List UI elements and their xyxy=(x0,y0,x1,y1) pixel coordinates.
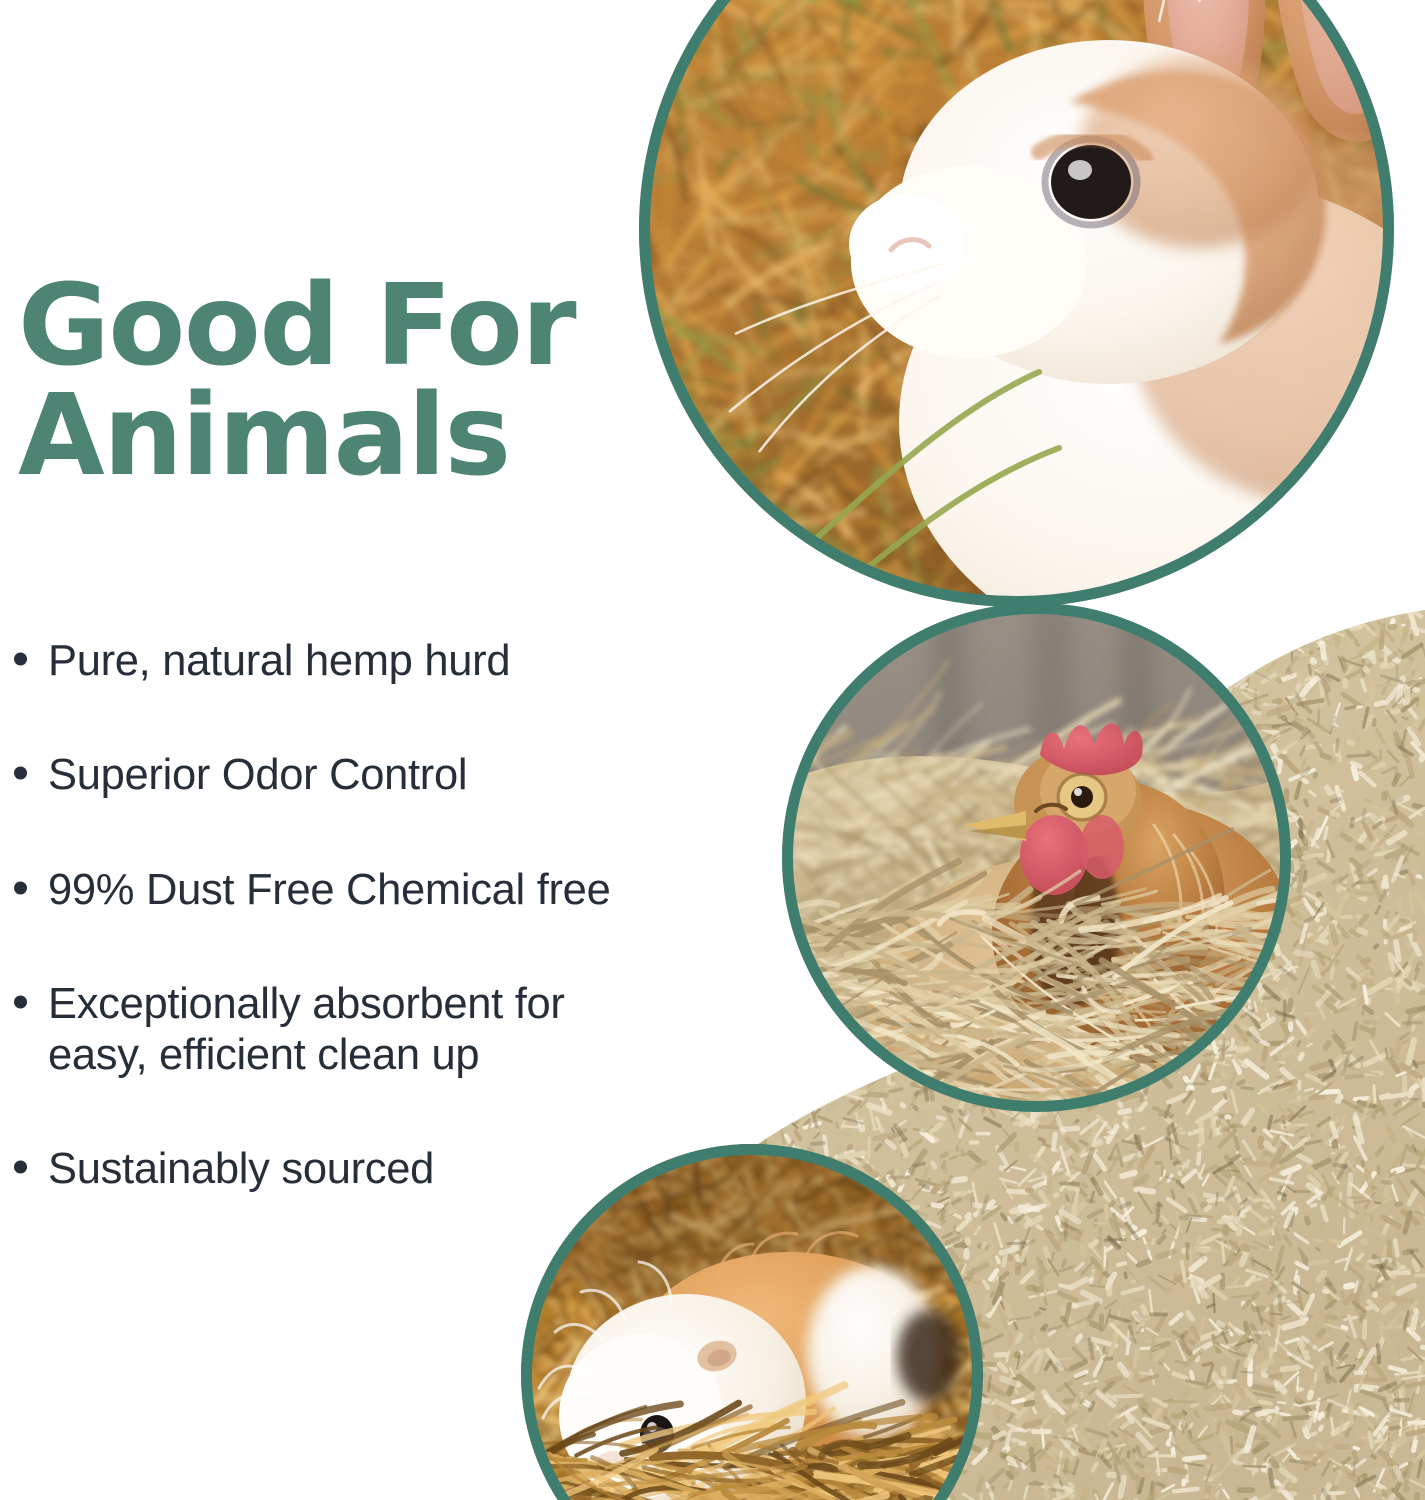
feature-panel: Good For Animals Pure, natural hemp hurd… xyxy=(0,0,1425,1500)
list-item-label: Pure, natural hemp hurd xyxy=(48,636,722,686)
bullet-dot-icon xyxy=(14,767,27,780)
list-item: Pure, natural hemp hurd xyxy=(10,636,722,686)
list-item-label: Exceptionally absorbent for easy, effici… xyxy=(48,979,722,1080)
list-item: 99% Dust Free Chemical free xyxy=(10,865,722,915)
bullet-dot-icon xyxy=(14,881,27,894)
feature-list: Pure, natural hemp hurd Superior Odor Co… xyxy=(10,636,722,1195)
bullet-dot-icon xyxy=(14,1160,27,1173)
list-item: Sustainably sourced xyxy=(10,1144,722,1194)
page-title: Good For Animals xyxy=(18,272,678,492)
bullet-dot-icon xyxy=(14,652,27,665)
hen-photo xyxy=(782,603,1291,1112)
bullet-dot-icon xyxy=(14,995,27,1008)
list-item: Superior Odor Control xyxy=(10,750,722,800)
list-item-label: Superior Odor Control xyxy=(48,750,722,800)
list-item-label: 99% Dust Free Chemical free xyxy=(48,865,722,915)
list-item: Exceptionally absorbent for easy, effici… xyxy=(10,979,722,1080)
